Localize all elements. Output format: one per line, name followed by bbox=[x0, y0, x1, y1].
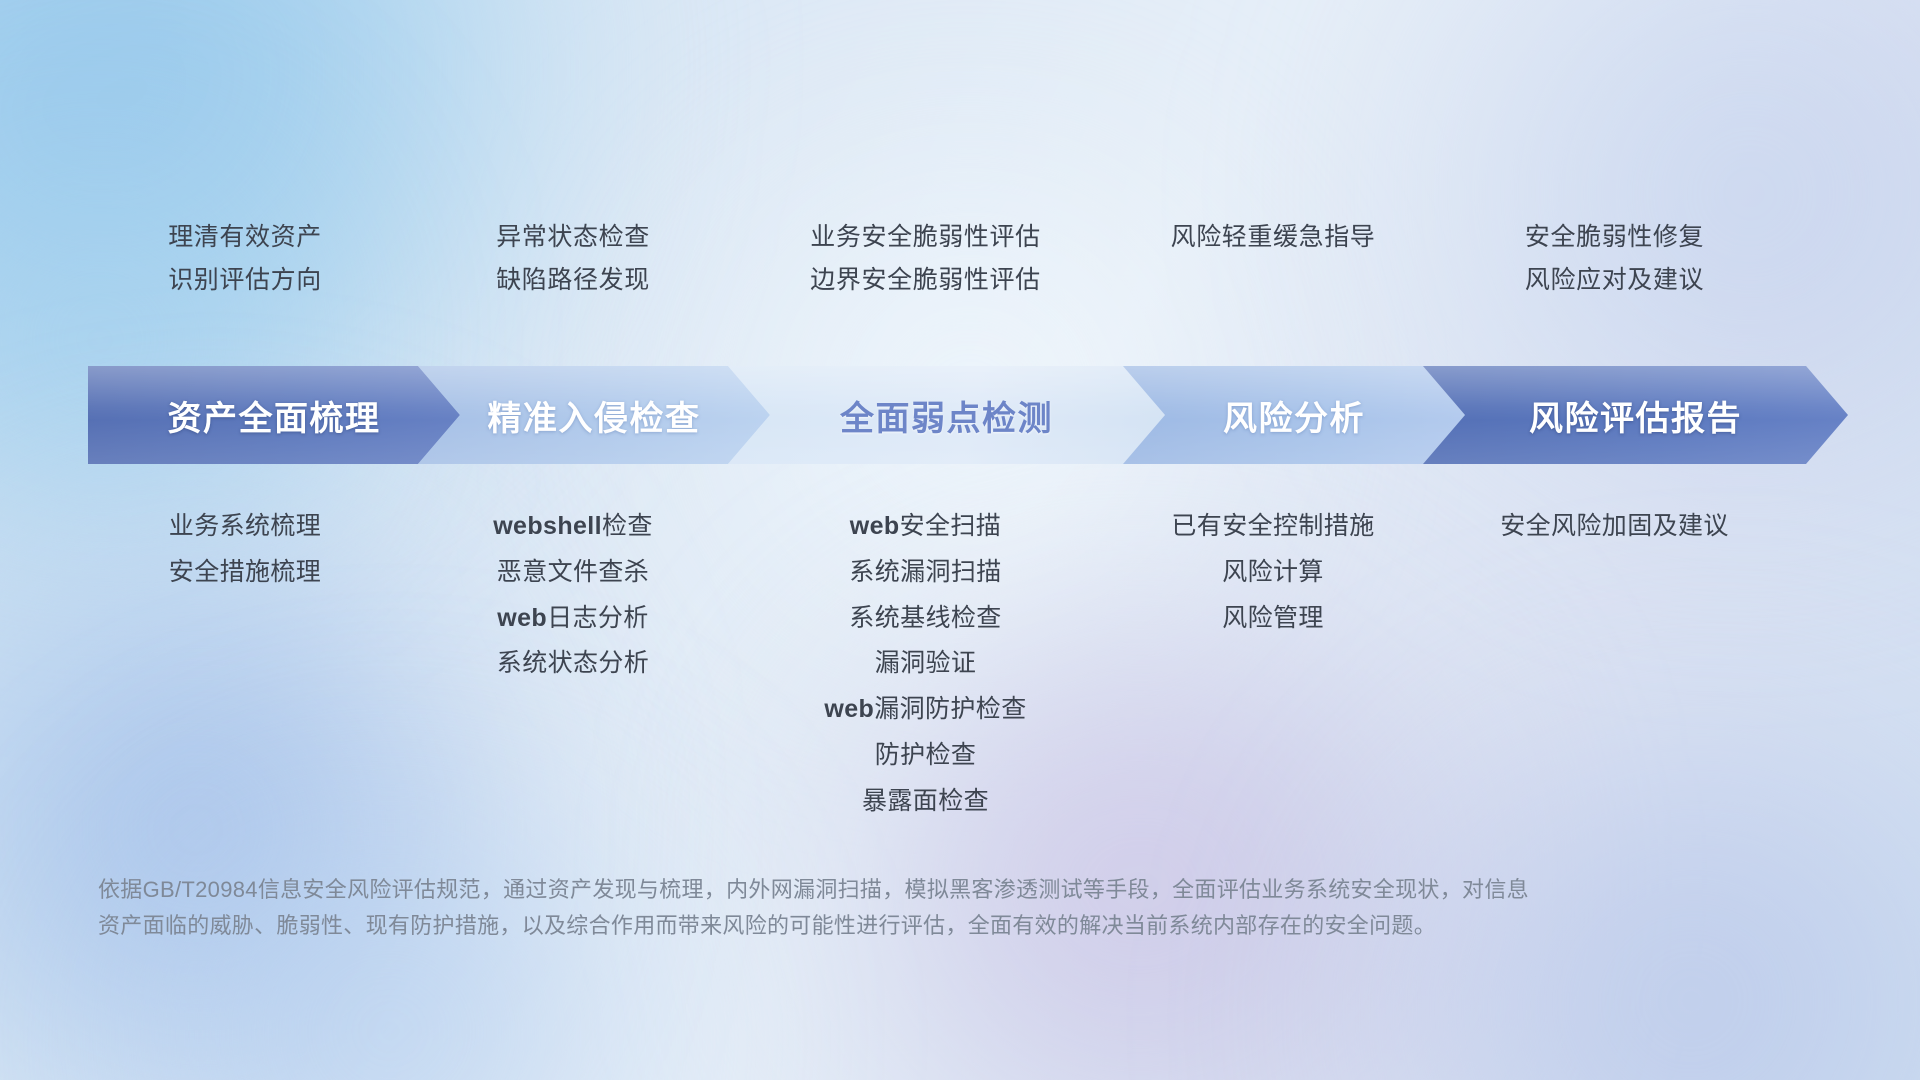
activity-item-zh: 安全风险加固及建议 bbox=[1500, 512, 1729, 540]
activity-column-risk-analysis: 已有安全控制措施风险计算风险管理 bbox=[1171, 512, 1374, 632]
stage-label: 风险分析 bbox=[1223, 391, 1365, 440]
activity-item-zh: 日志分析 bbox=[547, 604, 649, 632]
activity-item-en: web bbox=[850, 512, 900, 540]
activity-item: 系统漏洞扫描 bbox=[849, 558, 1001, 587]
activity-item: web漏洞防护检查 bbox=[824, 695, 1026, 724]
activity-item-zh: 已有安全控制措施 bbox=[1171, 512, 1374, 540]
activity-item: 已有安全控制措施 bbox=[1171, 512, 1374, 541]
activity-column-intrusion-check: webshell检查恶意文件查杀web日志分析系统状态分析 bbox=[493, 512, 653, 678]
stage-label: 全面弱点检测 bbox=[840, 391, 1053, 440]
activity-item: webshell检查 bbox=[493, 512, 653, 541]
stage-label: 精准入侵检查 bbox=[488, 391, 701, 440]
activity-column-asset-inventory: 业务系统梳理安全措施梳理 bbox=[169, 512, 321, 587]
activity-item-en: web bbox=[497, 604, 547, 632]
activity-item-zh: 漏洞防护检查 bbox=[874, 695, 1026, 723]
footer-description: 依据GB/T20984信息安全风险评估规范，通过资产发现与梳理，内外网漏洞扫描，… bbox=[98, 872, 1738, 943]
activity-item-zh: 漏洞验证 bbox=[875, 649, 977, 677]
stage-label: 资产全面梳理 bbox=[168, 391, 381, 440]
process-stage-banner: 资产全面梳理精准入侵检查全面弱点检测风险分析风险评估报告 bbox=[88, 366, 1848, 464]
activity-item: web日志分析 bbox=[497, 604, 648, 633]
stage-chevron-risk-analysis[interactable]: 风险分析 bbox=[1123, 366, 1465, 464]
activity-item-zh: 暴露面检查 bbox=[862, 787, 989, 815]
stage-chevron-risk-report[interactable]: 风险评估报告 bbox=[1423, 366, 1848, 464]
activity-item-zh: 业务系统梳理 bbox=[169, 512, 321, 540]
stage-chevron-asset-inventory[interactable]: 资产全面梳理 bbox=[88, 366, 460, 464]
activity-item: 业务系统梳理 bbox=[169, 512, 321, 541]
activity-item-zh: 系统基线检查 bbox=[849, 604, 1001, 632]
footer-line-2: 资产面临的威胁、脆弱性、现有防护措施，以及综合作用而带来风险的可能性进行评估，全… bbox=[98, 908, 1738, 944]
activity-column-weakness-detection: web安全扫描系统漏洞扫描系统基线检查漏洞验证web漏洞防护检查防护检查暴露面检… bbox=[824, 512, 1026, 815]
activity-item-zh: 安全扫描 bbox=[900, 512, 1002, 540]
activity-item-en: webshell bbox=[493, 512, 602, 540]
activity-item-zh: 检查 bbox=[602, 512, 653, 540]
activity-item: 系统状态分析 bbox=[497, 649, 649, 678]
activity-item-en: web bbox=[824, 695, 874, 723]
risk-assessment-process-diagram: 理清有效资产识别评估方向异常状态检查缺陷路径发现业务安全脆弱性评估边界安全脆弱性… bbox=[0, 0, 1920, 1080]
activity-item-zh: 风险管理 bbox=[1222, 604, 1324, 632]
activity-item: 风险计算 bbox=[1222, 558, 1324, 587]
activity-item: 风险管理 bbox=[1222, 604, 1324, 633]
activity-item: 安全风险加固及建议 bbox=[1500, 512, 1729, 541]
footer-line-1: 依据GB/T20984信息安全风险评估规范，通过资产发现与梳理，内外网漏洞扫描，… bbox=[98, 872, 1738, 908]
stage-label: 风险评估报告 bbox=[1529, 391, 1742, 440]
activity-item: 漏洞验证 bbox=[875, 649, 977, 678]
activity-item-zh: 系统状态分析 bbox=[497, 649, 649, 677]
stage-chevron-intrusion-check[interactable]: 精准入侵检查 bbox=[418, 366, 770, 464]
activity-item-zh: 恶意文件查杀 bbox=[497, 558, 649, 586]
activity-item: web安全扫描 bbox=[850, 512, 1001, 541]
activity-item: 系统基线检查 bbox=[849, 604, 1001, 633]
activity-item-zh: 安全措施梳理 bbox=[169, 558, 321, 586]
activity-item: 暴露面检查 bbox=[862, 787, 989, 816]
activity-item: 安全措施梳理 bbox=[169, 558, 321, 587]
activity-item: 防护检查 bbox=[875, 741, 977, 770]
activity-item-zh: 防护检查 bbox=[875, 741, 977, 769]
activity-column-risk-report: 安全风险加固及建议 bbox=[1500, 512, 1729, 541]
stage-chevron-weakness-detection[interactable]: 全面弱点检测 bbox=[728, 366, 1165, 464]
activity-item-zh: 系统漏洞扫描 bbox=[849, 558, 1001, 586]
activity-item: 恶意文件查杀 bbox=[497, 558, 649, 587]
activity-item-zh: 风险计算 bbox=[1222, 558, 1324, 586]
